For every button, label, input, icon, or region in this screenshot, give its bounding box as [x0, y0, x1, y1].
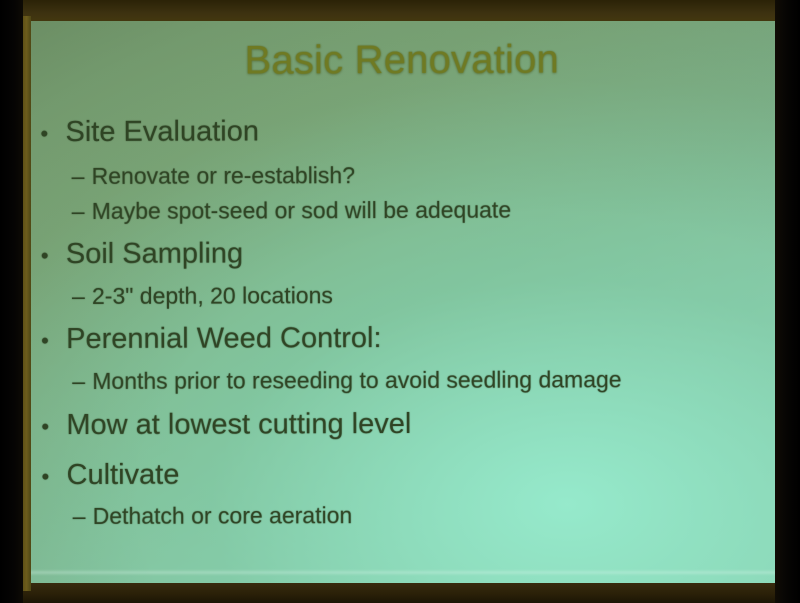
sub-bullet-item: – Renovate or re-establish? — [29, 159, 776, 192]
bullet-marker-icon: • — [40, 123, 65, 145]
projected-slide-photo: Basic Renovation • Site Evaluation – Ren… — [0, 0, 800, 603]
bullet-marker-icon: • — [42, 466, 67, 488]
dash-marker-icon: – — [72, 370, 92, 393]
bullet-item: • Mow at lowest cutting level — [29, 404, 776, 444]
screen-bottom-highlight — [29, 571, 776, 574]
slide-bullet-list: • Site Evaluation – Renovate or re-estab… — [29, 112, 776, 534]
dash-marker-icon: – — [73, 505, 93, 528]
bullet-item: • Site Evaluation — [29, 112, 776, 152]
slide-title: Basic Renovation — [29, 37, 775, 84]
bullet-marker-icon: • — [41, 416, 66, 438]
bullet-item: • Perennial Weed Control: — [29, 319, 776, 359]
photo-border-left — [0, 0, 23, 603]
sub-bullet-item: – Months prior to reseeding to avoid see… — [29, 364, 776, 397]
screen-frame-edge — [22, 16, 31, 591]
bullet-item: • Soil Sampling — [29, 234, 776, 274]
dash-marker-icon: – — [72, 200, 92, 223]
photo-border-top — [0, 0, 800, 23]
sub-bullet-text: Dethatch or core aeration — [93, 500, 353, 531]
photo-border-right — [775, 0, 800, 603]
bullet-marker-icon: • — [41, 331, 66, 353]
sub-bullet-item: – 2-3" depth, 20 locations — [29, 279, 776, 312]
bullet-text: Site Evaluation — [65, 113, 259, 151]
sub-bullet-text: 2-3" depth, 20 locations — [92, 280, 333, 311]
sub-bullet-item: – Dethatch or core aeration — [30, 499, 776, 532]
dash-marker-icon: – — [72, 285, 92, 308]
slide-content: Basic Renovation • Site Evaluation – Ren… — [29, 21, 776, 583]
bullet-text: Perennial Weed Control: — [66, 321, 382, 360]
bullet-marker-icon: • — [41, 245, 66, 267]
projection-screen: Basic Renovation • Site Evaluation – Ren… — [29, 21, 776, 583]
sub-bullet-text: Months prior to reseeding to avoid seedl… — [92, 364, 621, 396]
bullet-text: Cultivate — [66, 457, 179, 495]
bullet-item: • Cultivate — [29, 455, 776, 495]
dash-marker-icon: – — [72, 165, 92, 188]
bullet-text: Soil Sampling — [66, 236, 243, 274]
sub-bullet-text: Renovate or re-establish? — [92, 160, 355, 191]
sub-bullet-item: – Maybe spot-seed or sod will be adequat… — [29, 194, 776, 227]
bullet-text: Mow at lowest cutting level — [66, 405, 411, 444]
photo-border-bottom — [0, 581, 800, 603]
sub-bullet-text: Maybe spot-seed or sod will be adequate — [92, 195, 511, 227]
